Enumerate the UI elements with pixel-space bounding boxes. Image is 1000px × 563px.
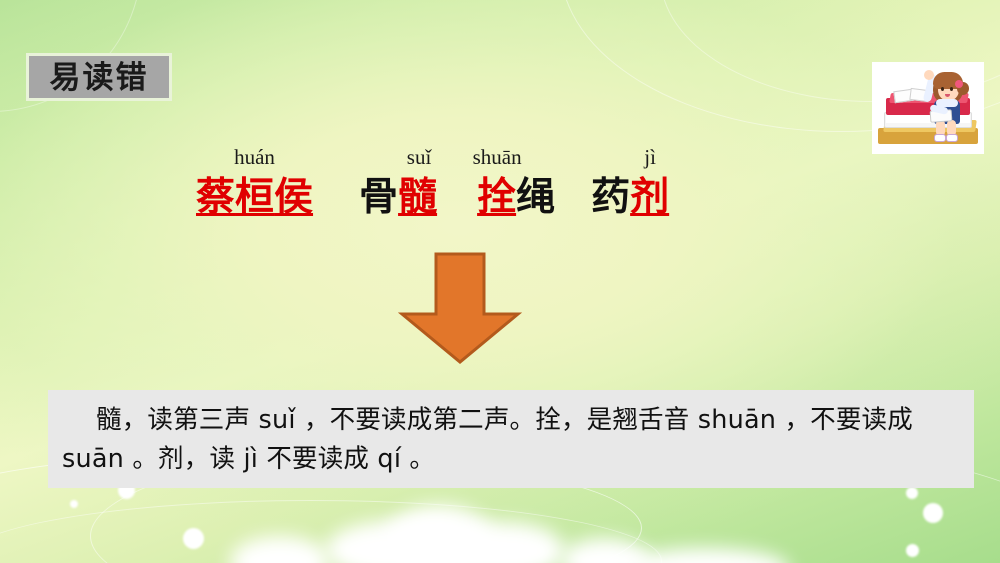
explanation-box: 髓，读第三声 suǐ ，不要读成第二声。拴，是翘舌音 shuān ，不要读成 s… <box>48 390 974 488</box>
background-dot-decoration <box>923 503 943 523</box>
word-group-gu-sui[interactable]: suǐ 骨 髓 <box>359 138 437 219</box>
explanation-text: 髓，读第三声 suǐ ，不要读成第二声。拴，是翘舌音 shuān ，不要读成 s… <box>62 401 960 479</box>
background-cloud-decoration <box>560 538 650 563</box>
pinyin-sui: suǐ <box>407 147 432 168</box>
pinyin-line: jì <box>591 138 669 168</box>
pinyin-ji: jì <box>644 147 656 168</box>
hanzi-ji: 剂 <box>630 178 669 219</box>
girl-hair-flower <box>955 80 963 88</box>
background-cloud-decoration <box>620 548 790 563</box>
background-cloud-decoration <box>230 536 330 563</box>
slide-canvas: 易读错 huán <box>0 0 1000 563</box>
background-dot-decoration <box>906 544 919 557</box>
pinyin-line: shuān <box>477 138 555 168</box>
hanzi-line: 药 剂 <box>591 178 669 219</box>
word-row: huán 蔡 桓 侯 suǐ 骨 髓 <box>0 138 1000 219</box>
vocabulary-area: huán 蔡 桓 侯 suǐ 骨 髓 <box>0 138 1000 219</box>
hanzi-sui: 髓 <box>398 178 437 219</box>
pinyin-shuan: shuān <box>473 147 522 168</box>
girl-eye-left <box>941 87 944 91</box>
word-group-yao-ji[interactable]: jì 药 剂 <box>591 138 669 219</box>
pinyin-line: huán <box>196 138 313 168</box>
background-swirl-decoration <box>0 500 662 563</box>
hanzi-sheng: 绳 <box>516 178 555 219</box>
word-group-cai-huan-hou[interactable]: huán 蔡 桓 侯 <box>196 138 313 219</box>
background-cloud-decoration <box>325 520 475 563</box>
hanzi-cai: 蔡 <box>196 178 235 219</box>
hanzi-hou: 侯 <box>274 178 313 219</box>
girl-raised-hand <box>924 70 934 80</box>
slide-title-plate: 易读错 <box>26 53 172 101</box>
word-group-shuan-sheng[interactable]: shuān 拴 绳 <box>477 138 555 219</box>
background-cloud-decoration <box>385 505 495 563</box>
hanzi-yao: 药 <box>591 178 630 219</box>
hanzi-gu: 骨 <box>359 178 398 219</box>
background-dot-decoration <box>183 528 204 549</box>
hanzi-line: 蔡 桓 侯 <box>196 178 313 219</box>
pinyin-huan: huán <box>234 147 275 168</box>
pinyin-line: suǐ <box>359 138 437 168</box>
hanzi-shuan: 拴 <box>477 178 516 219</box>
down-arrow-icon <box>398 252 522 364</box>
page-title: 易读错 <box>50 62 149 93</box>
hanzi-huan: 桓 <box>235 178 274 219</box>
hanzi-line: 骨 髓 <box>359 178 437 219</box>
girl-eye-right <box>950 87 953 91</box>
hanzi-line: 拴 绳 <box>477 178 555 219</box>
background-cloud-decoration <box>445 522 565 563</box>
background-dot-decoration <box>70 500 78 508</box>
background-dot-decoration <box>906 487 918 499</box>
